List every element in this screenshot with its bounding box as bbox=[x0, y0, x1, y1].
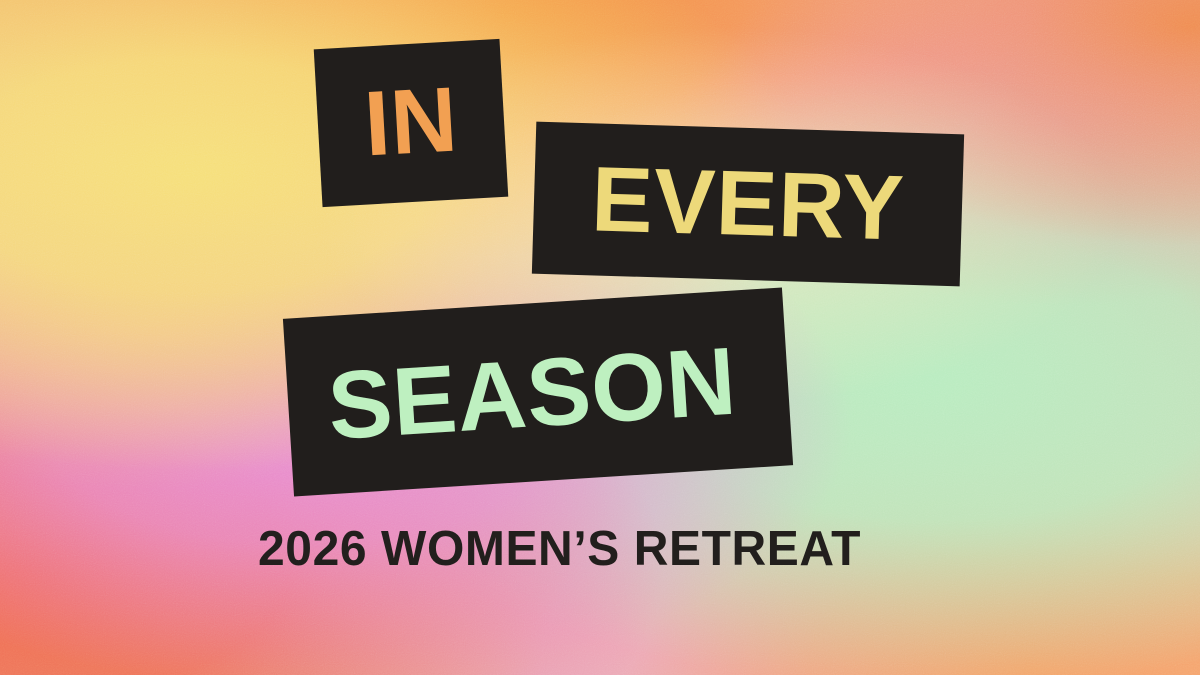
headline-block-every: EVERY bbox=[532, 122, 964, 287]
headline-word-season: SEASON bbox=[325, 334, 739, 455]
headline-word-in: IN bbox=[362, 73, 460, 170]
headline-block-in: IN bbox=[314, 39, 509, 207]
headline-block-season: SEASON bbox=[283, 287, 793, 496]
poster-subtitle: 2026 WOMEN’S RETREAT bbox=[258, 525, 861, 574]
headline-word-every: EVERY bbox=[590, 153, 906, 254]
poster-canvas: IN EVERY SEASON 2026 WOMEN’S RETREAT bbox=[0, 0, 1200, 675]
